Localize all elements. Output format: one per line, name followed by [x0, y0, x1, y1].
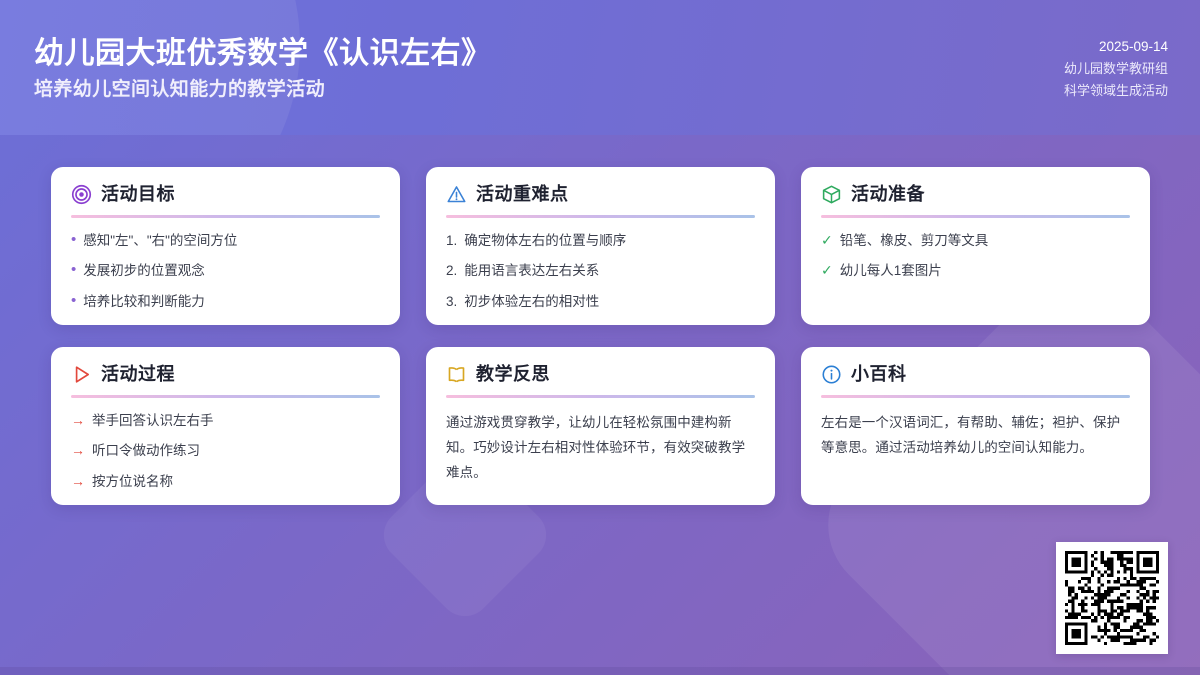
page-header: 幼儿园大班优秀数学《认识左右》 培养幼儿空间认知能力的教学活动 2025-09-… [0, 0, 1200, 135]
list-item: •培养比较和判断能力 [71, 292, 380, 312]
qr-code[interactable] [1056, 542, 1168, 654]
warning-triangle-icon [446, 184, 467, 205]
reflection-paragraph: 通过游戏贯穿教学，让幼儿在轻松氛围中建构新知。巧妙设计左右相对性体验环节，有效突… [446, 411, 755, 486]
list-item: →听口令做动作练习 [71, 441, 380, 461]
list-item: →举手回答认识左右手 [71, 411, 380, 431]
list-item-text: 铅笔、橡皮、剪刀等文具 [840, 231, 989, 251]
header-category: 科学领域生成活动 [1064, 80, 1168, 101]
list-item-text: 感知"左"、"右"的空间方位 [83, 231, 237, 251]
bullet-dot-icon: • [71, 231, 76, 250]
box-package-icon [821, 184, 842, 205]
encyclopedia-paragraph: 左右是一个汉语词汇，有帮助、辅佐；袒护、保护等意思。通过活动培养幼儿的空间认知能… [821, 411, 1130, 461]
title-block: 幼儿园大班优秀数学《认识左右》 培养幼儿空间认知能力的教学活动 [34, 31, 492, 105]
card-header: 小百科 [821, 364, 1130, 386]
card-encyclopedia: 小百科 左右是一个汉语词汇，有帮助、辅佐；袒护、保护等意思。通过活动培养幼儿的空… [801, 347, 1150, 505]
card-divider [71, 215, 380, 218]
list-item-text: 能用语言表达左右关系 [464, 261, 599, 281]
key-difficulties-list: 1.确定物体左右的位置与顺序 2.能用语言表达左右关系 3.初步体验左右的相对性 [446, 231, 755, 312]
list-item: ✓幼儿每人1套图片 [821, 261, 1130, 281]
process-list: →举手回答认识左右手 →听口令做动作练习 →按方位说名称 [71, 411, 380, 492]
card-header: 活动过程 [71, 364, 380, 386]
target-icon [71, 184, 92, 205]
list-item-text: 确定物体左右的位置与顺序 [464, 231, 626, 251]
preparation-list: ✓铅笔、橡皮、剪刀等文具 ✓幼儿每人1套图片 [821, 231, 1130, 281]
card-title: 活动重难点 [476, 184, 569, 206]
list-number: 2. [446, 261, 457, 281]
arrow-right-icon: → [71, 472, 85, 491]
objectives-list: •感知"左"、"右"的空间方位 •发展初步的位置观念 •培养比较和判断能力 [71, 231, 380, 312]
list-item: 1.确定物体左右的位置与顺序 [446, 231, 755, 251]
card-reflection: 教学反思 通过游戏贯穿教学，让幼儿在轻松氛围中建构新知。巧妙设计左右相对性体验环… [426, 347, 775, 505]
card-divider [446, 215, 755, 218]
card-title: 活动准备 [851, 184, 925, 206]
list-item: •发展初步的位置观念 [71, 261, 380, 281]
card-grid: 活动目标 •感知"左"、"右"的空间方位 •发展初步的位置观念 •培养比较和判断… [51, 167, 1149, 505]
info-circle-icon [821, 364, 842, 385]
card-title: 活动目标 [101, 184, 175, 206]
play-triangle-icon [71, 364, 92, 385]
arrow-right-icon: → [71, 441, 85, 460]
header-organization: 幼儿园数学教研组 [1064, 58, 1168, 79]
list-item-text: 培养比较和判断能力 [83, 292, 205, 312]
check-icon: ✓ [821, 261, 833, 280]
open-book-icon [446, 364, 467, 385]
header-date: 2025-09-14 [1064, 36, 1168, 58]
card-header: 活动目标 [71, 184, 380, 206]
card-divider [821, 395, 1130, 398]
list-item-text: 听口令做动作练习 [92, 441, 200, 461]
card-title: 小百科 [851, 364, 907, 386]
page-title: 幼儿园大班优秀数学《认识左右》 [34, 35, 492, 73]
list-number: 1. [446, 231, 457, 251]
bullet-dot-icon: • [71, 292, 76, 311]
decorative-bottom-strip [0, 667, 1200, 675]
card-preparation: 活动准备 ✓铅笔、橡皮、剪刀等文具 ✓幼儿每人1套图片 [801, 167, 1150, 325]
card-header: 教学反思 [446, 364, 755, 386]
card-title: 活动过程 [101, 364, 175, 386]
list-item-text: 幼儿每人1套图片 [840, 261, 942, 281]
card-header: 活动准备 [821, 184, 1130, 206]
list-item: →按方位说名称 [71, 472, 380, 492]
bullet-dot-icon: • [71, 261, 76, 280]
list-item-text: 初步体验左右的相对性 [464, 292, 599, 312]
list-item: •感知"左"、"右"的空间方位 [71, 231, 380, 251]
card-header: 活动重难点 [446, 184, 755, 206]
list-item-text: 举手回答认识左右手 [92, 411, 214, 431]
arrow-right-icon: → [71, 411, 85, 430]
card-key-difficulties: 活动重难点 1.确定物体左右的位置与顺序 2.能用语言表达左右关系 3.初步体验… [426, 167, 775, 325]
header-meta: 2025-09-14 幼儿园数学教研组 科学领域生成活动 [1064, 34, 1168, 100]
card-divider [71, 395, 380, 398]
card-divider [446, 395, 755, 398]
list-item-text: 按方位说名称 [92, 472, 173, 492]
qr-code-image [1065, 551, 1159, 645]
page-subtitle: 培养幼儿空间认知能力的教学活动 [34, 76, 492, 105]
check-icon: ✓ [821, 231, 833, 250]
card-objectives: 活动目标 •感知"左"、"右"的空间方位 •发展初步的位置观念 •培养比较和判断… [51, 167, 400, 325]
list-number: 3. [446, 292, 457, 312]
card-title: 教学反思 [476, 364, 550, 386]
card-process: 活动过程 →举手回答认识左右手 →听口令做动作练习 →按方位说名称 [51, 347, 400, 505]
list-item: 3.初步体验左右的相对性 [446, 292, 755, 312]
card-divider [821, 215, 1130, 218]
list-item: 2.能用语言表达左右关系 [446, 261, 755, 281]
list-item: ✓铅笔、橡皮、剪刀等文具 [821, 231, 1130, 251]
list-item-text: 发展初步的位置观念 [83, 261, 205, 281]
